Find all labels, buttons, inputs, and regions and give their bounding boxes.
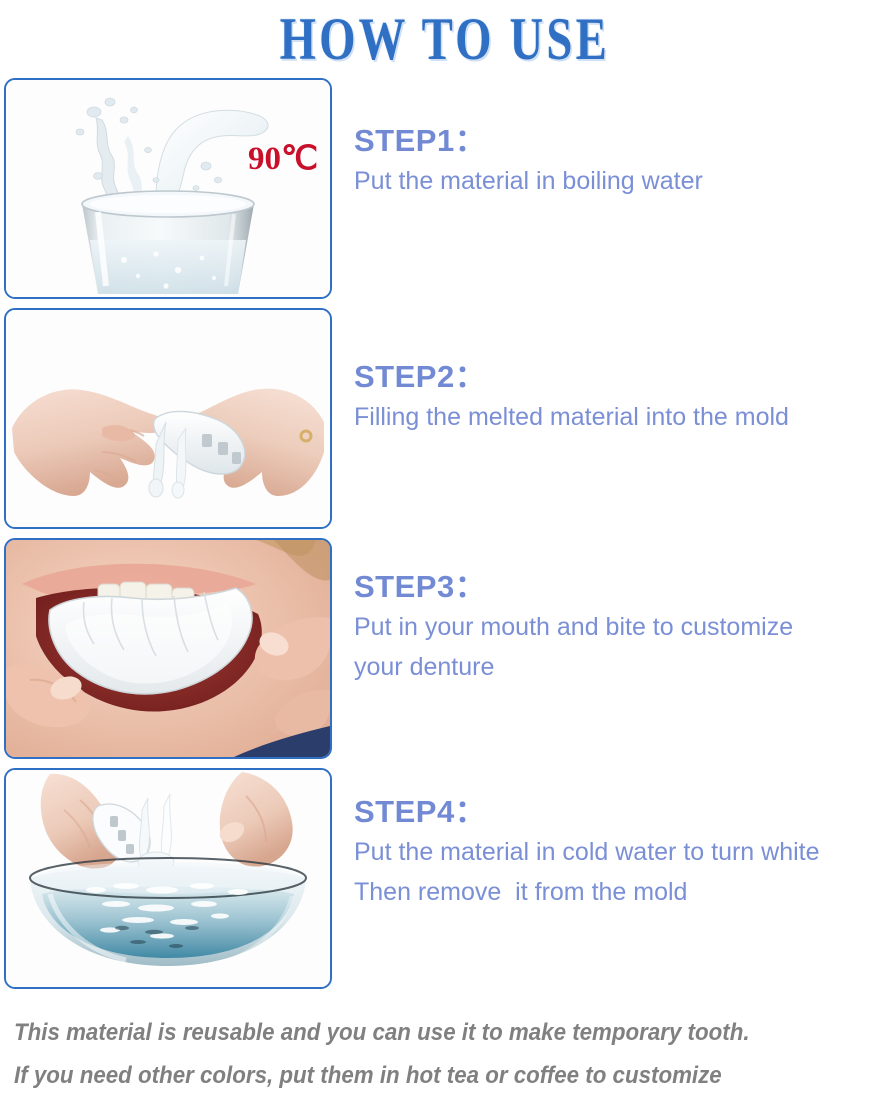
page-header: HOW TO USE [0,0,890,78]
step-row-1: 90℃ STEP1： Put the material in boiling w… [0,78,890,308]
glass-splash-illustration [6,80,330,297]
step-1-heading: STEP1： [354,122,890,161]
step-3-line-2: your denture [354,647,890,688]
step-4-heading: STEP4： [354,793,890,832]
hands-holding-mold-photo [4,308,332,529]
denture-in-mouth-photo [4,538,332,759]
step-4-text: STEP4： Put the material in cold water to… [332,768,890,913]
step-4-line-1: Put the material in cold water to turn w… [354,832,890,873]
step-row-2: STEP2： Filling the melted material into … [0,308,890,538]
step-2-text: STEP2： Filling the melted material into … [332,308,890,437]
step-1-line-1: Put the material in boiling water [354,161,890,202]
step-3-heading: STEP3： [354,568,890,607]
steps-list: 90℃ STEP1： Put the material in boiling w… [0,78,890,998]
bowl-cold-water-illustration [6,770,330,987]
page-title: HOW TO USE [280,9,610,69]
step-2-line-1: Filling the melted material into the mol… [354,397,890,438]
temperature-badge: 90℃ [248,138,318,178]
footer-line-1: This material is reusable and you can us… [14,1012,829,1055]
boiling-water-glass-photo: 90℃ [4,78,332,299]
step-row-4: STEP4： Put the material in cold water to… [0,768,890,998]
step-1-text: STEP1： Put the material in boiling water [332,78,890,201]
step-row-3: STEP3： Put in your mouth and bite to cus… [0,538,890,768]
step-3-text: STEP3： Put in your mouth and bite to cus… [332,538,890,688]
cold-water-bowl-photo [4,768,332,989]
mouth-denture-illustration [6,540,330,757]
step-3-line-1: Put in your mouth and bite to customize [354,607,890,648]
footer-line-2: If you need other colors, put them in ho… [14,1055,829,1097]
step-2-heading: STEP2： [354,358,890,397]
step-4-line-2: Then remove it from the mold [354,872,890,913]
hands-mold-illustration [6,310,330,527]
footer-note: This material is reusable and you can us… [0,998,890,1097]
